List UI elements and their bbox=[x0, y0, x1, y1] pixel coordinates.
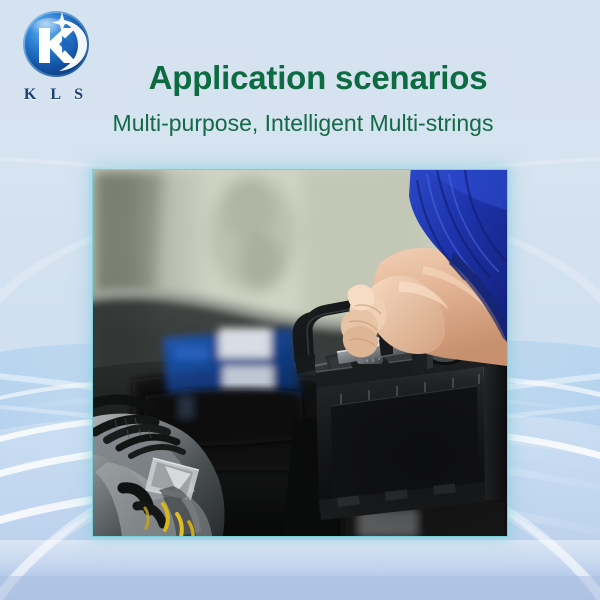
poster-header: K L S Application scenarios Multi-purpos… bbox=[0, 0, 600, 165]
page-subtitle: Multi-purpose, Intelligent Multi-strings bbox=[0, 108, 600, 138]
bottom-haze bbox=[0, 540, 600, 576]
bottom-band bbox=[0, 576, 600, 600]
application-scenarios-poster: K L S Application scenarios Multi-purpos… bbox=[0, 0, 600, 600]
mechanic-lifting-car-battery-photo bbox=[93, 170, 507, 536]
page-title: Application scenarios bbox=[0, 58, 600, 98]
scenario-photo-frame[interactable] bbox=[93, 170, 507, 536]
